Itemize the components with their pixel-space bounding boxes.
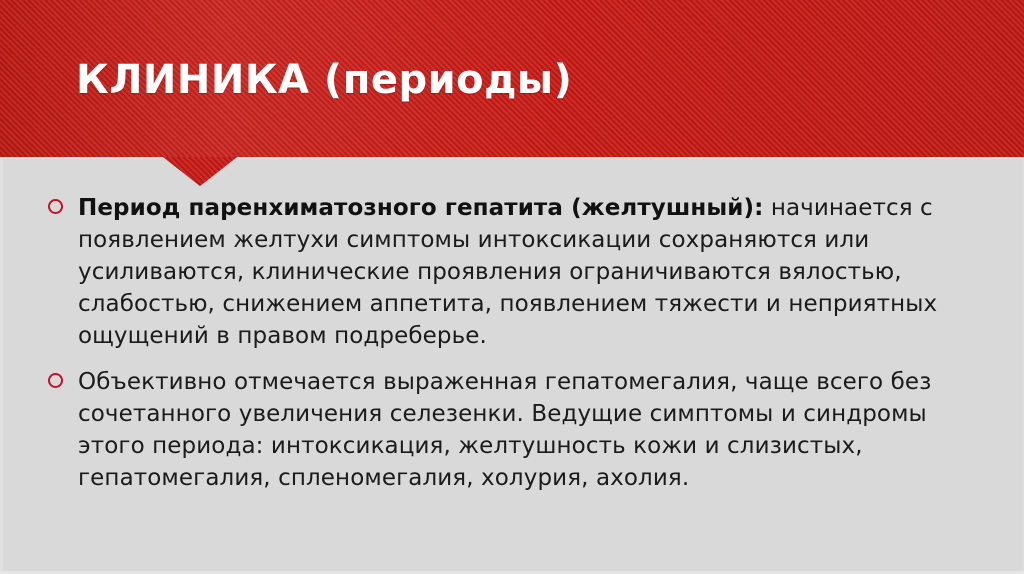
list-item: Период паренхиматозного гепатита (желтуш… bbox=[46, 192, 946, 352]
slide: КЛИНИКА (периоды) Период паренхиматозног… bbox=[0, 0, 1024, 574]
slide-left-edge bbox=[0, 159, 3, 574]
bullet-list: Период паренхиматозного гепатита (желтуш… bbox=[46, 192, 946, 508]
list-item-lead: Период паренхиматозного гепатита (желтуш… bbox=[78, 195, 763, 221]
list-item-rest: Объективно отмечается выраженная гепатом… bbox=[78, 369, 932, 491]
ring-bullet-icon bbox=[48, 373, 63, 388]
slide-header-band: КЛИНИКА (периоды) bbox=[0, 0, 1024, 157]
list-item-text: Период паренхиматозного гепатита (желтуш… bbox=[78, 195, 937, 349]
ring-bullet-icon bbox=[48, 199, 63, 214]
list-item: Объективно отмечается выраженная гепатом… bbox=[46, 366, 946, 494]
slide-body: Период паренхиматозного гепатита (желтуш… bbox=[0, 186, 1024, 574]
page-title: КЛИНИКА (периоды) bbox=[76, 56, 572, 104]
list-item-text: Объективно отмечается выраженная гепатом… bbox=[78, 369, 932, 491]
header-baseline-divider bbox=[0, 157, 1024, 159]
